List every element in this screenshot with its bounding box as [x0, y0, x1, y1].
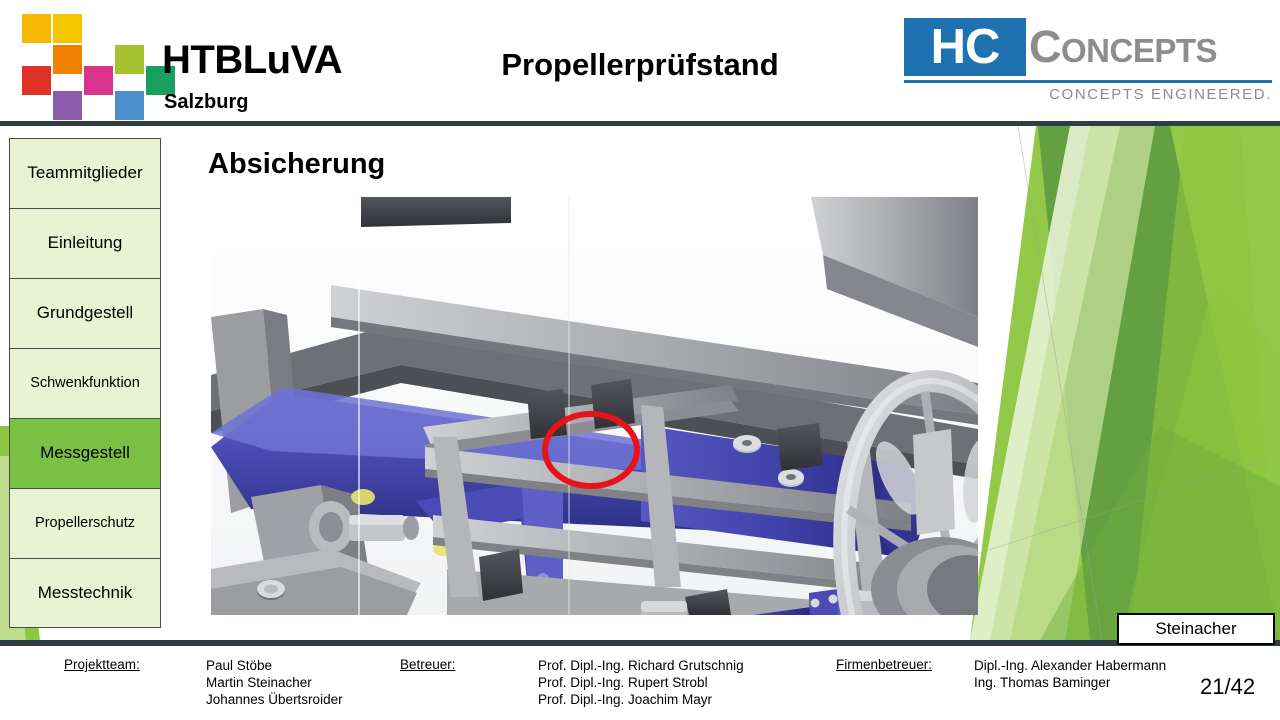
hc-tagline: CONCEPTS ENGINEERED.: [884, 86, 1272, 103]
supervisor-list: Prof. Dipl.-Ing. Richard Grutschnig Prof…: [538, 657, 744, 708]
logo-square-red: [22, 66, 51, 95]
logo-square-yellow-2: [53, 14, 82, 43]
hc-badge: HC: [904, 18, 1026, 76]
slide-footer: Projektteam: Paul Stöbe Martin Steinache…: [0, 646, 1280, 720]
page-title: Propellerprüfstand: [400, 47, 880, 83]
slide-canvas: HTBLuVA Salzburg Propellerprüfstand HC C…: [0, 0, 1280, 720]
logo-square-orange: [53, 45, 82, 74]
sidebar-item-schwenkfunktion[interactable]: Schwenkfunktion: [9, 348, 161, 418]
section-navigation: Teammitglieder Einleitung Grundgestell S…: [9, 138, 161, 628]
supervisor-label: Betreuer:: [400, 657, 456, 672]
facet-decoration-right: [970, 126, 1280, 640]
cad-rendering-figure: [211, 197, 978, 615]
company-supervisor-list: Dipl.-Ing. Alexander Habermann Ing. Thom…: [974, 657, 1166, 691]
htbluva-logo: HTBLuVA Salzburg: [10, 6, 360, 116]
hc-badge-text: HC: [904, 18, 1026, 76]
project-team-list: Paul Stöbe Martin Steinacher Johannes Üb…: [206, 657, 343, 708]
hc-word-main: C: [1029, 21, 1061, 72]
hc-word-rest: ONCEPTS: [1061, 32, 1217, 69]
htbluva-subtitle: Salzburg: [164, 92, 248, 112]
hc-underline-rule: [904, 80, 1272, 83]
sidebar-item-einleitung[interactable]: Einleitung: [9, 208, 161, 278]
logo-square-pink: [84, 66, 113, 95]
logo-square-blue: [115, 91, 144, 120]
logo-square-purple: [53, 91, 82, 120]
slide-title: Absicherung: [208, 148, 385, 181]
logo-square-yellow-1: [22, 14, 51, 43]
hc-concepts-wordmark: CONCEPTS: [1029, 24, 1217, 69]
presenter-name-badge: Steinacher: [1117, 613, 1275, 645]
sidebar-item-messtechnik[interactable]: Messtechnik: [9, 558, 161, 628]
project-team-label: Projektteam:: [64, 657, 140, 672]
slide-header: HTBLuVA Salzburg Propellerprüfstand HC C…: [0, 0, 1280, 121]
page-number: 21/42: [1200, 674, 1255, 700]
sidebar-item-teammitglieder[interactable]: Teammitglieder: [9, 138, 161, 208]
sidebar-item-messgestell[interactable]: Messgestell: [9, 418, 161, 488]
sidebar-item-propellerschutz[interactable]: Propellerschutz: [9, 488, 161, 558]
sidebar-item-grundgestell[interactable]: Grundgestell: [9, 278, 161, 348]
hc-concepts-logo: HC CONCEPTS CONCEPTS ENGINEERED.: [884, 18, 1272, 110]
company-supervisor-label: Firmenbetreuer:: [836, 657, 932, 672]
logo-square-olive: [115, 45, 144, 74]
htbluva-wordmark: HTBLuVA: [162, 40, 342, 80]
